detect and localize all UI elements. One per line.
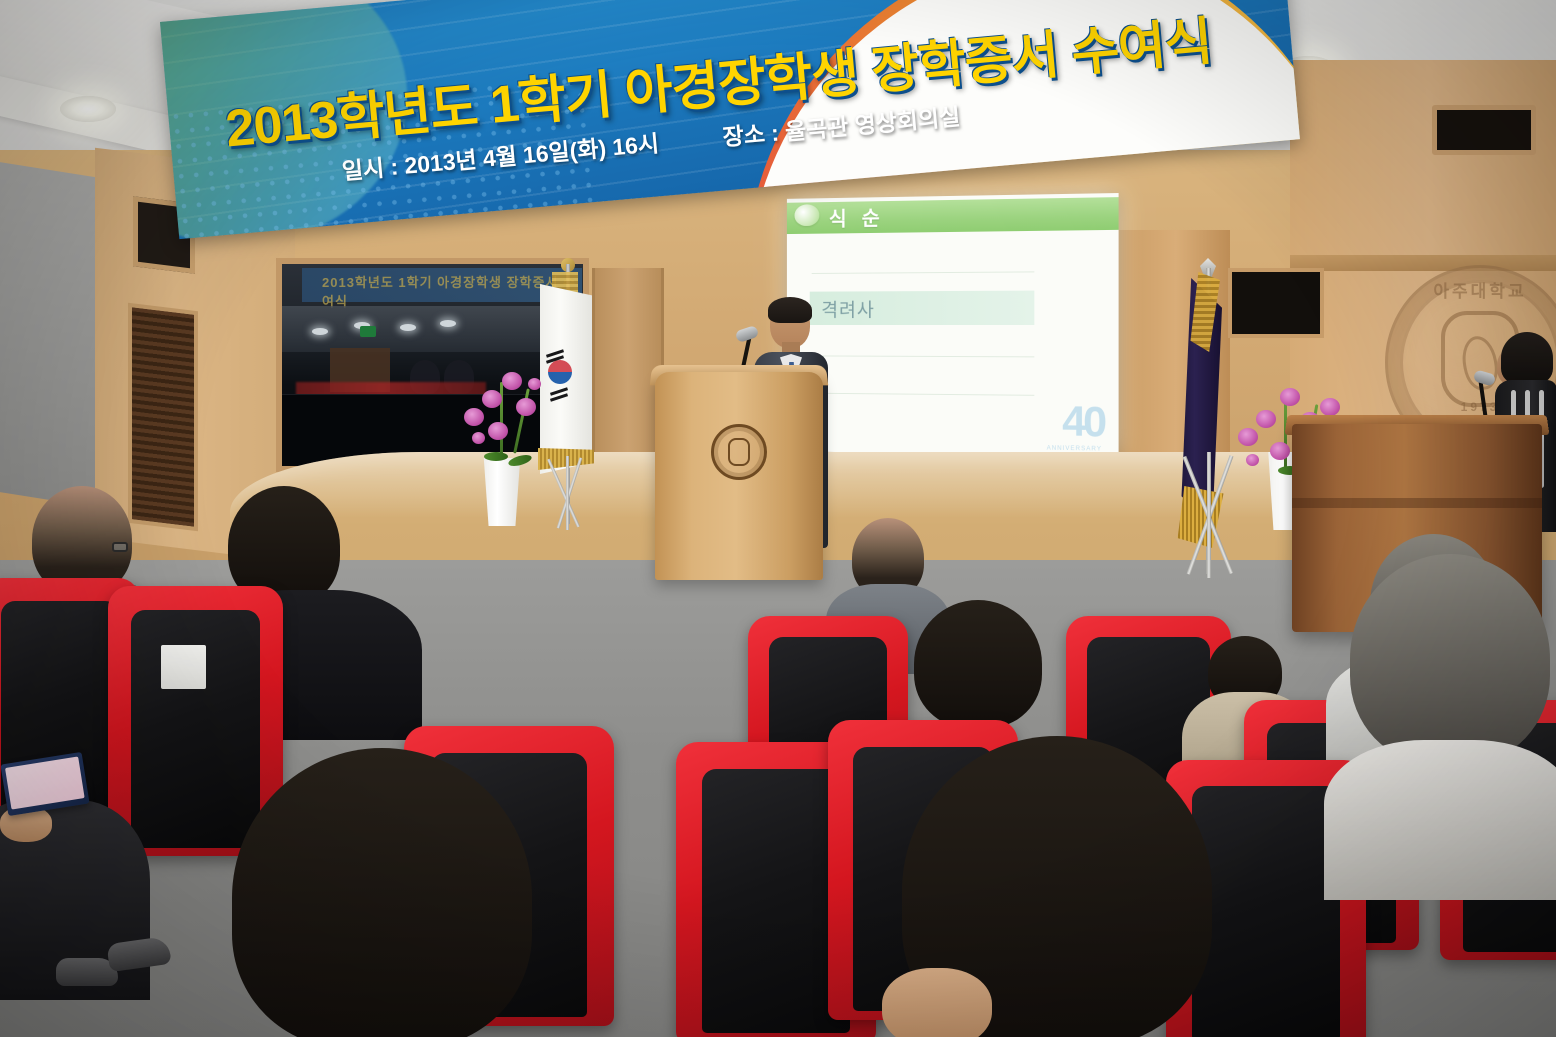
orchid-flower [1280,388,1300,406]
mc-hair [1501,332,1553,384]
orchid-flower [1320,398,1340,416]
korean-flag-stand [528,456,604,530]
orchid-flower [1270,442,1290,460]
orchid-flower [1238,428,1258,446]
audience-head [1350,554,1550,764]
slide-rule [812,393,1035,396]
eyeglasses-icon [112,542,128,552]
downlight-icon [60,96,116,122]
audience-shoulders [1324,740,1556,900]
audience-person-foreground [232,748,552,1037]
wall-speaker-icon [1432,105,1536,155]
slide-rule [812,355,1035,357]
tripod-leg [1207,452,1211,578]
orchid-flower [1256,410,1276,428]
orchid-flower [464,408,484,426]
orchid-flower [516,398,536,416]
audience-person-foreground [1330,554,1556,854]
flag-stand-leg [566,456,569,530]
orchid-bud [472,432,485,444]
speaker-hair [768,297,812,323]
center-podium [655,372,823,580]
flag-stand-leg [557,457,583,528]
reflected-downlight [400,324,416,331]
taeguk-symbol-icon [548,360,572,384]
reflected-exit-sign [360,326,376,337]
slide-highlighted-item: 격려사 [810,291,1035,325]
anniversary-logo-icon: 40 [1062,397,1104,446]
audience-person-foreground [902,736,1232,1037]
crest-flame-shape [728,438,750,466]
orchid-leaf [484,452,508,461]
audience-head [914,600,1042,728]
wall-monitor [1228,268,1324,338]
crest-korean-name: 아주대학교 [1388,277,1556,302]
ajou-crest-icon [711,424,767,480]
orchid-flower [482,390,502,408]
orchid-bud [528,378,541,390]
leaf-logo-icon [795,204,820,226]
seat-label-tag [161,645,207,688]
slide-title: 식 순 [829,202,885,231]
orchid-flower [502,372,522,390]
pink-orchid-cluster [458,364,550,464]
auditorium-photo-scene: 아주대학교 1973 AJOU UNIVERSITY 2013학년도 1학기 아… [0,0,1556,1037]
projection-screen: 식 순 격려사 40 ANNIVERSARY [787,193,1119,457]
reflected-downlight [440,320,456,327]
orchid-bud [1246,454,1259,466]
orchid-stem [500,382,503,454]
certificate-paper [5,756,85,809]
wall-trim-band [1290,255,1556,271]
orchid-flower [488,422,508,440]
audience-head [232,748,532,1037]
reflected-downlight [312,328,328,335]
lectern-seam [1292,498,1542,508]
acoustic-wall-panel [0,160,110,509]
audience-hand [882,968,992,1037]
slide-rule [812,271,1035,274]
